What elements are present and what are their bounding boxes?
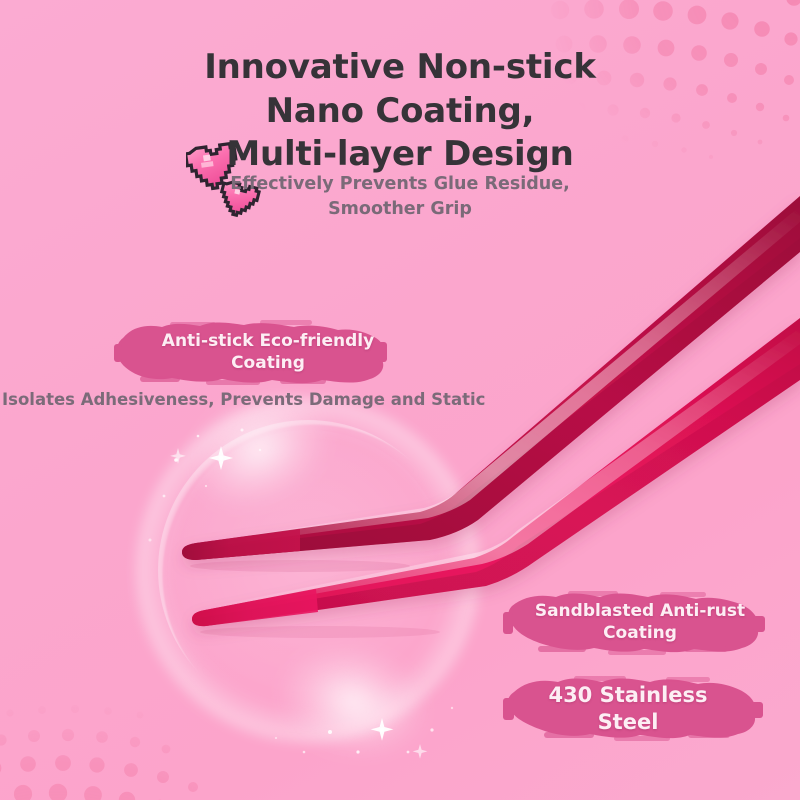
page-subtitle: Effectively Prevents Glue Residue, Smoot… [180, 172, 620, 223]
feature-badge-label: Anti-stick Eco-friendly Coating [162, 330, 374, 374]
feature-badge-sandblasted: Sandblasted Anti-rust Coating [498, 588, 770, 660]
halftone-sphere-icon [0, 688, 272, 800]
sparkle-icon [120, 400, 500, 780]
feature-badge-label: 430 Stainless Steel [548, 682, 707, 737]
product-poster: Innovative Non-stick Nano Coating, Multi… [0, 0, 800, 800]
feature-badge-label: Sandblasted Anti-rust Coating [535, 600, 745, 644]
feature-badge-steel: 430 Stainless Steel [498, 672, 770, 746]
glow-ring-icon [158, 420, 458, 720]
feature-badge-coating: Anti-stick Eco-friendly Coating [110, 318, 390, 390]
caption-isolates: Isolates Adhesiveness, Prevents Damage a… [2, 390, 426, 409]
page-title: Innovative Non-stick Nano Coating, Multi… [120, 46, 680, 177]
